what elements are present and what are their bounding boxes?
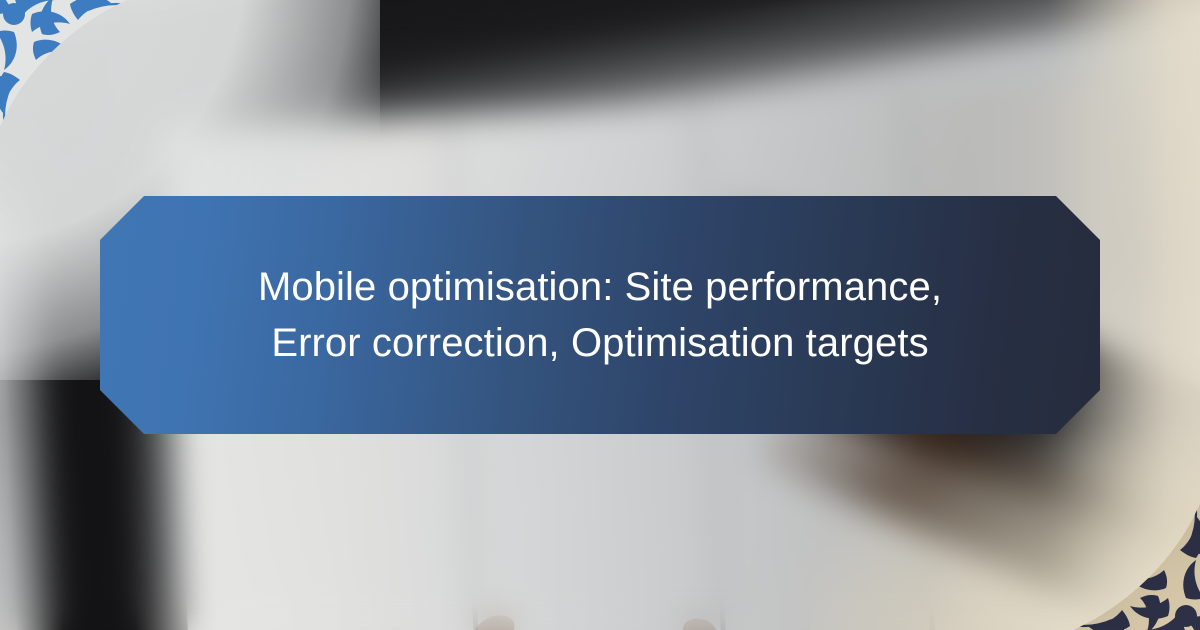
page-title: Mobile optimisation: Site performance, E… [210, 259, 990, 371]
title-banner: Mobile optimisation: Site performance, E… [100, 196, 1100, 434]
social-card: Mobile optimisation: Site performance, E… [0, 0, 1200, 630]
